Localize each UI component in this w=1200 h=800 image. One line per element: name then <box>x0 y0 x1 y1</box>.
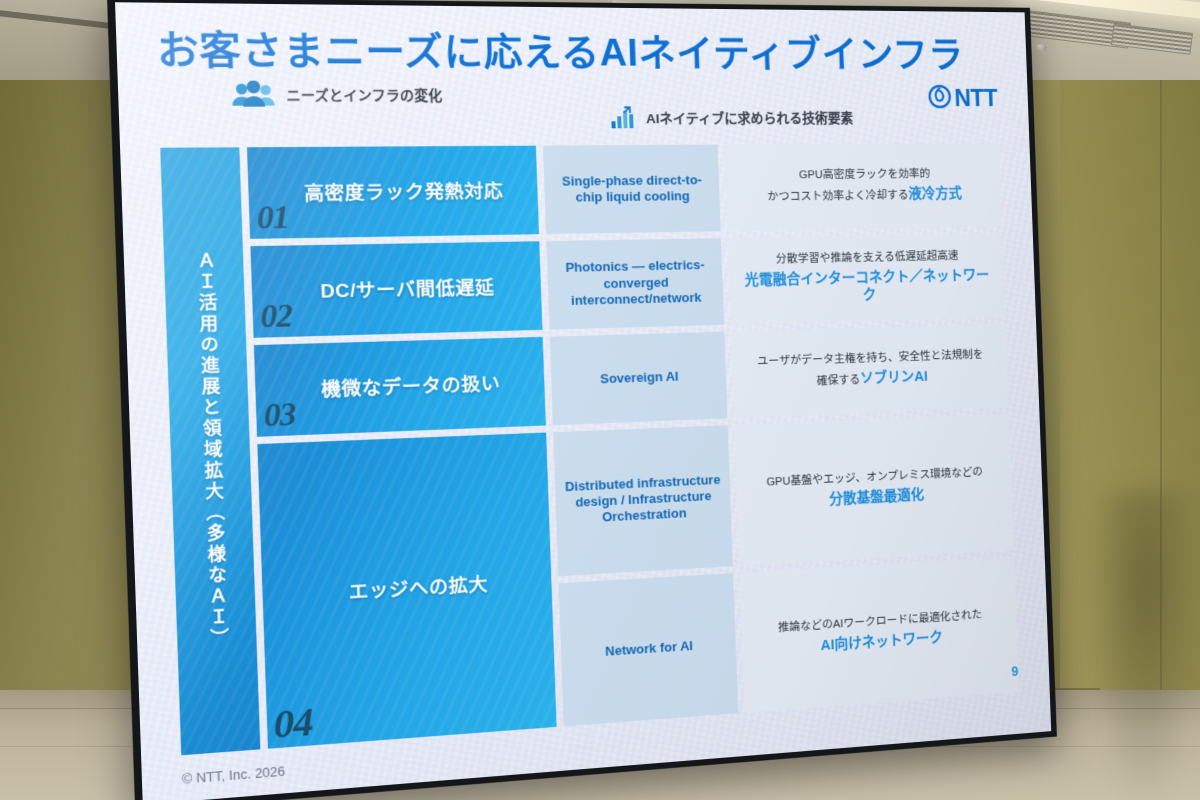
row-number: 03 <box>263 396 296 435</box>
desc-line-1: GPU高密度ラックを効率的 <box>799 168 931 184</box>
people-group-icon <box>230 80 277 107</box>
tech-cell[interactable]: Network for AI <box>559 573 739 727</box>
axis-label: ＡＩ活用の進展と領域拡大（多様なＡＩ） <box>190 250 230 649</box>
table-row: 02 DC/サーバ間低遅延 Photonics — electrics-conv… <box>250 233 1005 337</box>
presentation-slide: お客さまニーズに応えるAIネイティブインフラ ニーズとインフラの変化 <box>115 2 1051 800</box>
tech-cell[interactable]: Sovereign AI <box>550 332 728 426</box>
desc-line-2: 光電融合インターコネクト／ネットワーク <box>739 267 996 308</box>
need-label: 機微なデータの扱い <box>255 368 545 404</box>
row-number: 01 <box>256 199 289 237</box>
legend-tech: AIネイティブに求められる技術要素 <box>611 105 854 129</box>
needs-infrastructure-matrix: ＡＩ活用の進展と領域拡大（多様なＡＩ） 01 高密度ラック発熱対応 Single… <box>160 143 1019 755</box>
ntt-loop-logo-icon <box>927 84 952 114</box>
desc-cell: 推論などのAIワークロードに最適化された AI向けネットワーク <box>740 556 1019 712</box>
wall-shadow <box>1085 490 1200 800</box>
ntt-logo: NTT <box>927 84 998 114</box>
desc-line-2: かつコスト効率よく冷却する液冷方式 <box>767 186 962 206</box>
desc-line-2: 確保するソブリンAI <box>816 369 928 390</box>
row-number: 02 <box>260 297 293 335</box>
desc-cell: 分散学習や推論を支える低遅延超高速 光電融合インターコネクト／ネットワーク <box>728 233 1006 324</box>
tech-cell[interactable]: Distributed infrastructure design / Infr… <box>553 425 733 575</box>
desc-line-1: 推論などのAIワークロードに最適化された <box>778 609 982 637</box>
page-number: 9 <box>1011 663 1019 679</box>
need-cell-03[interactable]: 03 機微なデータの扱い <box>254 337 546 437</box>
need-label: DC/サーバ間低遅延 <box>252 272 542 305</box>
desc-cell: GPU高密度ラックを効率的 かつコスト効率よく冷却する液冷方式 <box>724 143 1002 231</box>
desc-cell: GPU基盤やエッジ、オンプレミス環境などの 分散基盤最適化 <box>735 414 1014 565</box>
page-title: お客さまニーズに応えるAIネイティブインフラ <box>156 30 996 76</box>
table-row: 04 エッジへの拡大 Distributed infrastructure de… <box>257 414 1019 749</box>
desc-highlight: ソブリンAI <box>860 370 928 388</box>
legend-row: ニーズとインフラの変化 AIネイティブに求められる技術要素 <box>158 80 998 128</box>
desc-line-1: GPU基盤やエッジ、オンプレミス環境などの <box>766 465 983 490</box>
desc-highlight: 光電融合インターコネクト／ネットワーク <box>745 268 990 304</box>
need-label: エッジへの拡大 <box>262 567 552 610</box>
tech-cell[interactable]: Single-phase direct-to-chip liquid cooli… <box>543 145 721 234</box>
desc-highlight: 液冷方式 <box>908 187 962 203</box>
desc-prefix: かつコスト効率よく冷却する <box>767 190 908 203</box>
ntt-wordmark: NTT <box>954 85 998 113</box>
matrix-rows: 01 高密度ラック発熱対応 Single-phase direct-to-chi… <box>247 143 1019 749</box>
screen-bezel: お客さまニーズに応えるAIネイティブインフラ ニーズとインフラの変化 <box>107 0 1057 800</box>
projection-screen: お客さまニーズに応えるAIネイティブインフラ ニーズとインフラの変化 <box>148 2 1068 772</box>
desc-line-2: AI向けネットワーク <box>820 629 943 655</box>
legend-tech-label: AIネイティブに求められる技術要素 <box>646 107 854 127</box>
desc-highlight: 分散基盤最適化 <box>829 487 925 507</box>
axis-column: ＡＩ活用の進展と領域拡大（多様なＡＩ） <box>160 147 260 755</box>
desc-prefix: 確保する <box>817 375 861 388</box>
row-number: 04 <box>273 700 313 749</box>
legend-needs-label: ニーズとインフラの変化 <box>286 84 443 105</box>
desc-line-2: 分散基盤最適化 <box>829 486 925 508</box>
need-label: 高密度ラック発熱対応 <box>248 177 538 207</box>
desc-highlight: AI向けネットワーク <box>820 630 943 654</box>
bar-chart-up-icon <box>611 105 638 129</box>
desc-line-1: 分散学習や推論を支える低遅延超高速 <box>776 250 959 268</box>
tech-cell[interactable]: Photonics — electrics-converged intercon… <box>546 238 724 329</box>
need-cell-04[interactable]: 04 エッジへの拡大 <box>257 433 556 749</box>
desc-line-1: ユーザがデータ主権を持ち、安全性と法規制を <box>757 349 983 371</box>
copyright-notice: © NTT, Inc. 2026 <box>182 764 285 787</box>
table-row: 01 高密度ラック発熱対応 Single-phase direct-to-chi… <box>247 143 1002 239</box>
need-cell-01[interactable]: 01 高密度ラック発熱対応 <box>247 146 539 239</box>
legend-needs: ニーズとインフラの変化 <box>230 80 442 107</box>
need-cell-02[interactable]: 02 DC/サーバ間低遅延 <box>250 241 542 338</box>
desc-cell: ユーザがデータ主権を持ち、安全性と法規制を 確保するソブリンAI <box>731 324 1009 418</box>
